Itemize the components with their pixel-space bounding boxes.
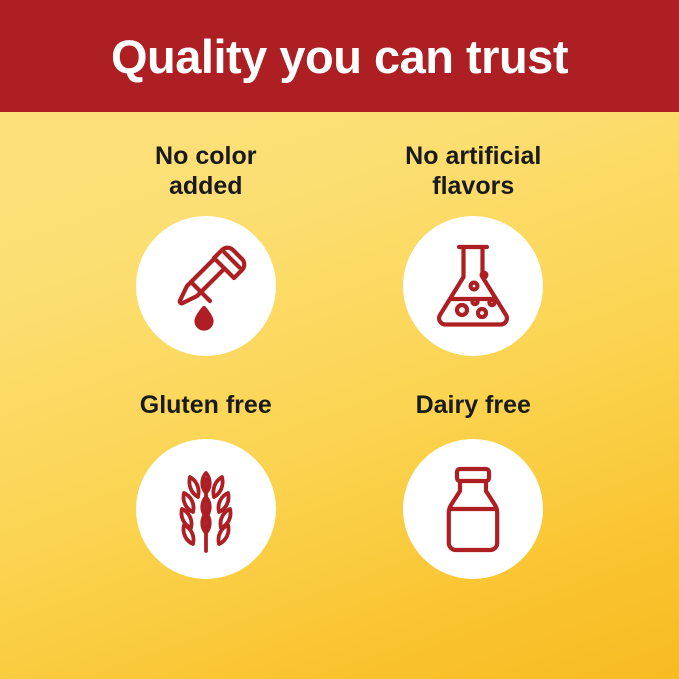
feature-item-no-color-added: No color added <box>72 142 340 391</box>
feature-grid: No color added No artificial flavors <box>0 112 679 679</box>
feature-item-no-artificial-flavors: No artificial flavors <box>340 142 608 391</box>
wheat-icon <box>160 463 252 555</box>
feature-item-dairy-free: Dairy free <box>340 391 608 640</box>
feature-item-gluten-free: Gluten free <box>72 391 340 640</box>
feature-label: No color added <box>155 142 256 202</box>
dropper-icon <box>160 240 252 332</box>
feature-label: Gluten free <box>140 391 272 421</box>
feature-badge <box>403 216 543 356</box>
feature-label: Dairy free <box>416 391 531 421</box>
feature-badge <box>136 439 276 579</box>
milk-bottle-icon <box>427 463 519 555</box>
page-title: Quality you can trust <box>111 29 568 84</box>
quality-poster: Quality you can trust No color added No … <box>0 0 679 679</box>
feature-badge <box>136 216 276 356</box>
flask-icon <box>426 239 520 333</box>
feature-label: No artificial flavors <box>405 142 541 202</box>
feature-badge <box>403 439 543 579</box>
header-banner: Quality you can trust <box>0 0 679 112</box>
